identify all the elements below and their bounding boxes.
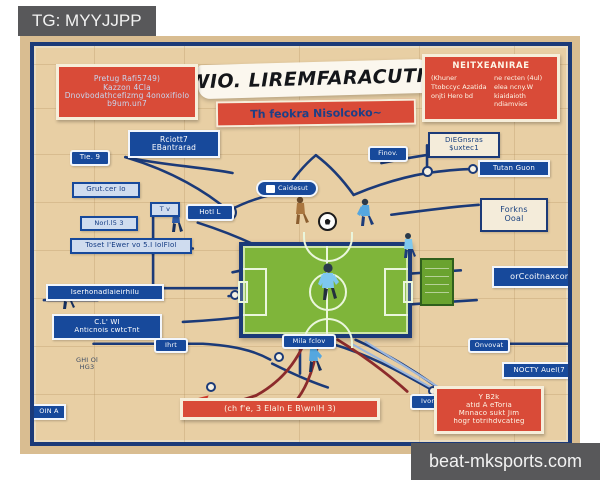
label-midfield[interactable]: Mila fclov <box>282 334 336 349</box>
label-line: DiEGnsras <box>431 137 497 145</box>
pitch-goal-right <box>403 281 413 303</box>
label-line: Mila fclov <box>285 338 333 345</box>
label-total[interactable]: Tutan Guon <box>478 160 550 177</box>
card-line: (ch f'e, 3 Elaln E B\wnlH 3) <box>187 405 373 414</box>
label-line: Caidesut <box>278 185 308 192</box>
watermark-top-left: TG: MYYJJPP <box>18 6 156 36</box>
page-subtitle: Th feokra Nisolcoko~ <box>250 106 382 121</box>
card-line: ne recten (4ul) <box>494 74 542 82</box>
label-flow[interactable]: Finov. <box>368 146 408 162</box>
label-antonis[interactable]: C.L' WI Anticnois cwtcTnt <box>52 314 162 340</box>
label-diff[interactable]: DiEGnsras $uxtec1 <box>428 132 500 158</box>
player-figure-right <box>356 198 376 228</box>
soccer-ball-icon <box>318 212 337 231</box>
card-line: ndiamvies <box>494 100 527 108</box>
label-line: Finov. <box>371 150 405 157</box>
label-line: NOCTY Auel(7 I) <box>505 367 568 375</box>
label-line: EBantrarad <box>132 144 216 152</box>
top-left-info-card: Pretug Rafi5749) Kazzon 4Cla Dnovbodathc… <box>56 64 198 120</box>
card-column-right: ne recten (4ul) elea ncny.W kiaidaioth n… <box>494 74 551 109</box>
label-line: Norl.l5 3 <box>83 220 135 227</box>
label-first-lines[interactable]: Toset I'Ewer vo 5.I lolFlol <box>70 238 192 254</box>
label-line: Grut.cer lo <box>75 186 137 194</box>
mini-field-graphic <box>420 258 454 306</box>
connector-node <box>422 166 433 177</box>
card-line: Hero bd <box>447 92 473 100</box>
card-line: Dnovbodathcefizmg 4onoxifiolo <box>64 92 190 100</box>
label-line: Onvovat <box>471 342 507 349</box>
label-perking[interactable]: Forkns Ooal <box>480 198 548 232</box>
pitch-goal-left <box>238 281 248 303</box>
label-line: Rciott7 <box>132 136 216 144</box>
bottom-center-banner: (ch f'e, 3 Elaln E B\wnlH 3) <box>180 398 380 420</box>
label-greatest[interactable]: Grut.cer lo <box>72 182 140 198</box>
label-line: Tutan Guon <box>481 165 547 173</box>
poster-subtitle-banner: Th feokra Nisolcoko~ <box>216 99 416 128</box>
label-leftbot[interactable]: OIN A <box>34 404 66 420</box>
card-line: elea ncny.W <box>494 83 533 91</box>
card-line: kiaidaioth <box>494 92 526 100</box>
label-iserbona[interactable]: Iserhonadlaieirhilu <box>46 284 164 301</box>
poster-title-banner: WIO. LIREMFARACUTIT <box>198 59 429 99</box>
card-line: atid A eToria <box>441 402 537 410</box>
card-line: Kazzon 4Cla <box>64 84 190 92</box>
page-title: WIO. LIREMFARACUTIT <box>188 65 438 94</box>
card-column-left: (Khuner Ttobccyc Azatida onjti Hero bd <box>431 74 488 109</box>
connector-node <box>274 352 284 362</box>
top-right-info-card: NEITXEANIRAE (Khuner Ttobccyc Azatida on… <box>422 54 560 122</box>
label-time[interactable]: Tie. 9 <box>70 150 110 166</box>
label-onvova[interactable]: Onvovat <box>468 338 510 353</box>
card-icon <box>266 185 275 193</box>
label-line: T v <box>153 206 177 213</box>
label-line: GHI Ol <box>61 357 113 364</box>
label-line: Toset I'Ewer vo 5.I lolFlol <box>73 242 189 250</box>
player-figure-kicker <box>292 196 310 226</box>
label-center-pill[interactable]: Caidesut <box>256 180 318 197</box>
card-line: Ttobccyc <box>431 83 460 91</box>
label-tr[interactable]: T v <box>150 202 180 217</box>
label-line: Tie. 9 <box>73 154 107 162</box>
connector-node <box>468 164 478 174</box>
bottom-right-info-card: Y B2k atid A eToria Mnnaco sukt Jim hogr… <box>434 386 544 434</box>
label-line: OIN A <box>35 408 63 415</box>
label-line: Iserhonadlaieirhilu <box>49 289 161 297</box>
poster: WIO. LIREMFARACUTIT Th feokra Nisolcoko~… <box>20 36 580 454</box>
label-line: Hotl L <box>189 209 231 217</box>
card-line: hogr totrihdvcatieg <box>441 418 537 426</box>
card-line: Y B2k <box>441 394 537 402</box>
label-line: C.L' WI <box>56 319 158 327</box>
label-line: Ooal <box>484 215 544 224</box>
label-line: Anticnois cwtcTnt <box>56 327 158 335</box>
label-line: Ihrt <box>157 342 185 349</box>
label-history-title[interactable]: Rciott7 EBantrarad <box>128 130 220 158</box>
card-line: Mnnaco sukt Jim <box>441 410 537 418</box>
connector-node <box>206 382 216 392</box>
card-heading: NEITXEANIRAE <box>431 61 551 71</box>
card-line: b9um.un7 <box>64 100 190 108</box>
soccer-pitch <box>239 242 412 338</box>
label-line: orCcoitnaxcoma <box>495 273 568 282</box>
label-hint[interactable]: Ihrt <box>154 338 188 353</box>
label-nocty[interactable]: NOCTY Auel(7 I) <box>502 362 568 379</box>
label-line: HG3 <box>61 364 113 371</box>
poster-frame: WIO. LIREMFARACUTIT Th feokra Nisolcoko~… <box>30 42 572 446</box>
label-world[interactable]: Norl.l5 3 <box>80 216 138 231</box>
card-line: Pretug Rafi5749) <box>64 75 190 83</box>
pitch-arc-top <box>303 232 353 262</box>
watermark-bottom-right: beat-mksports.com <box>411 443 600 480</box>
player-figure-far-right <box>400 232 418 260</box>
label-roll[interactable]: Hotl L <box>186 204 234 221</box>
card-line: (Khuner <box>431 74 457 82</box>
player-figure-center <box>315 262 341 306</box>
label-line: Forkns <box>484 206 544 215</box>
label-orcoit[interactable]: orCcoitnaxcoma <box>492 266 568 288</box>
poster-canvas: WIO. LIREMFARACUTIT Th feokra Nisolcoko~… <box>34 46 568 442</box>
label-line: $uxtec1 <box>431 145 497 153</box>
label-ghi: GHI Ol HG3 <box>60 352 114 376</box>
